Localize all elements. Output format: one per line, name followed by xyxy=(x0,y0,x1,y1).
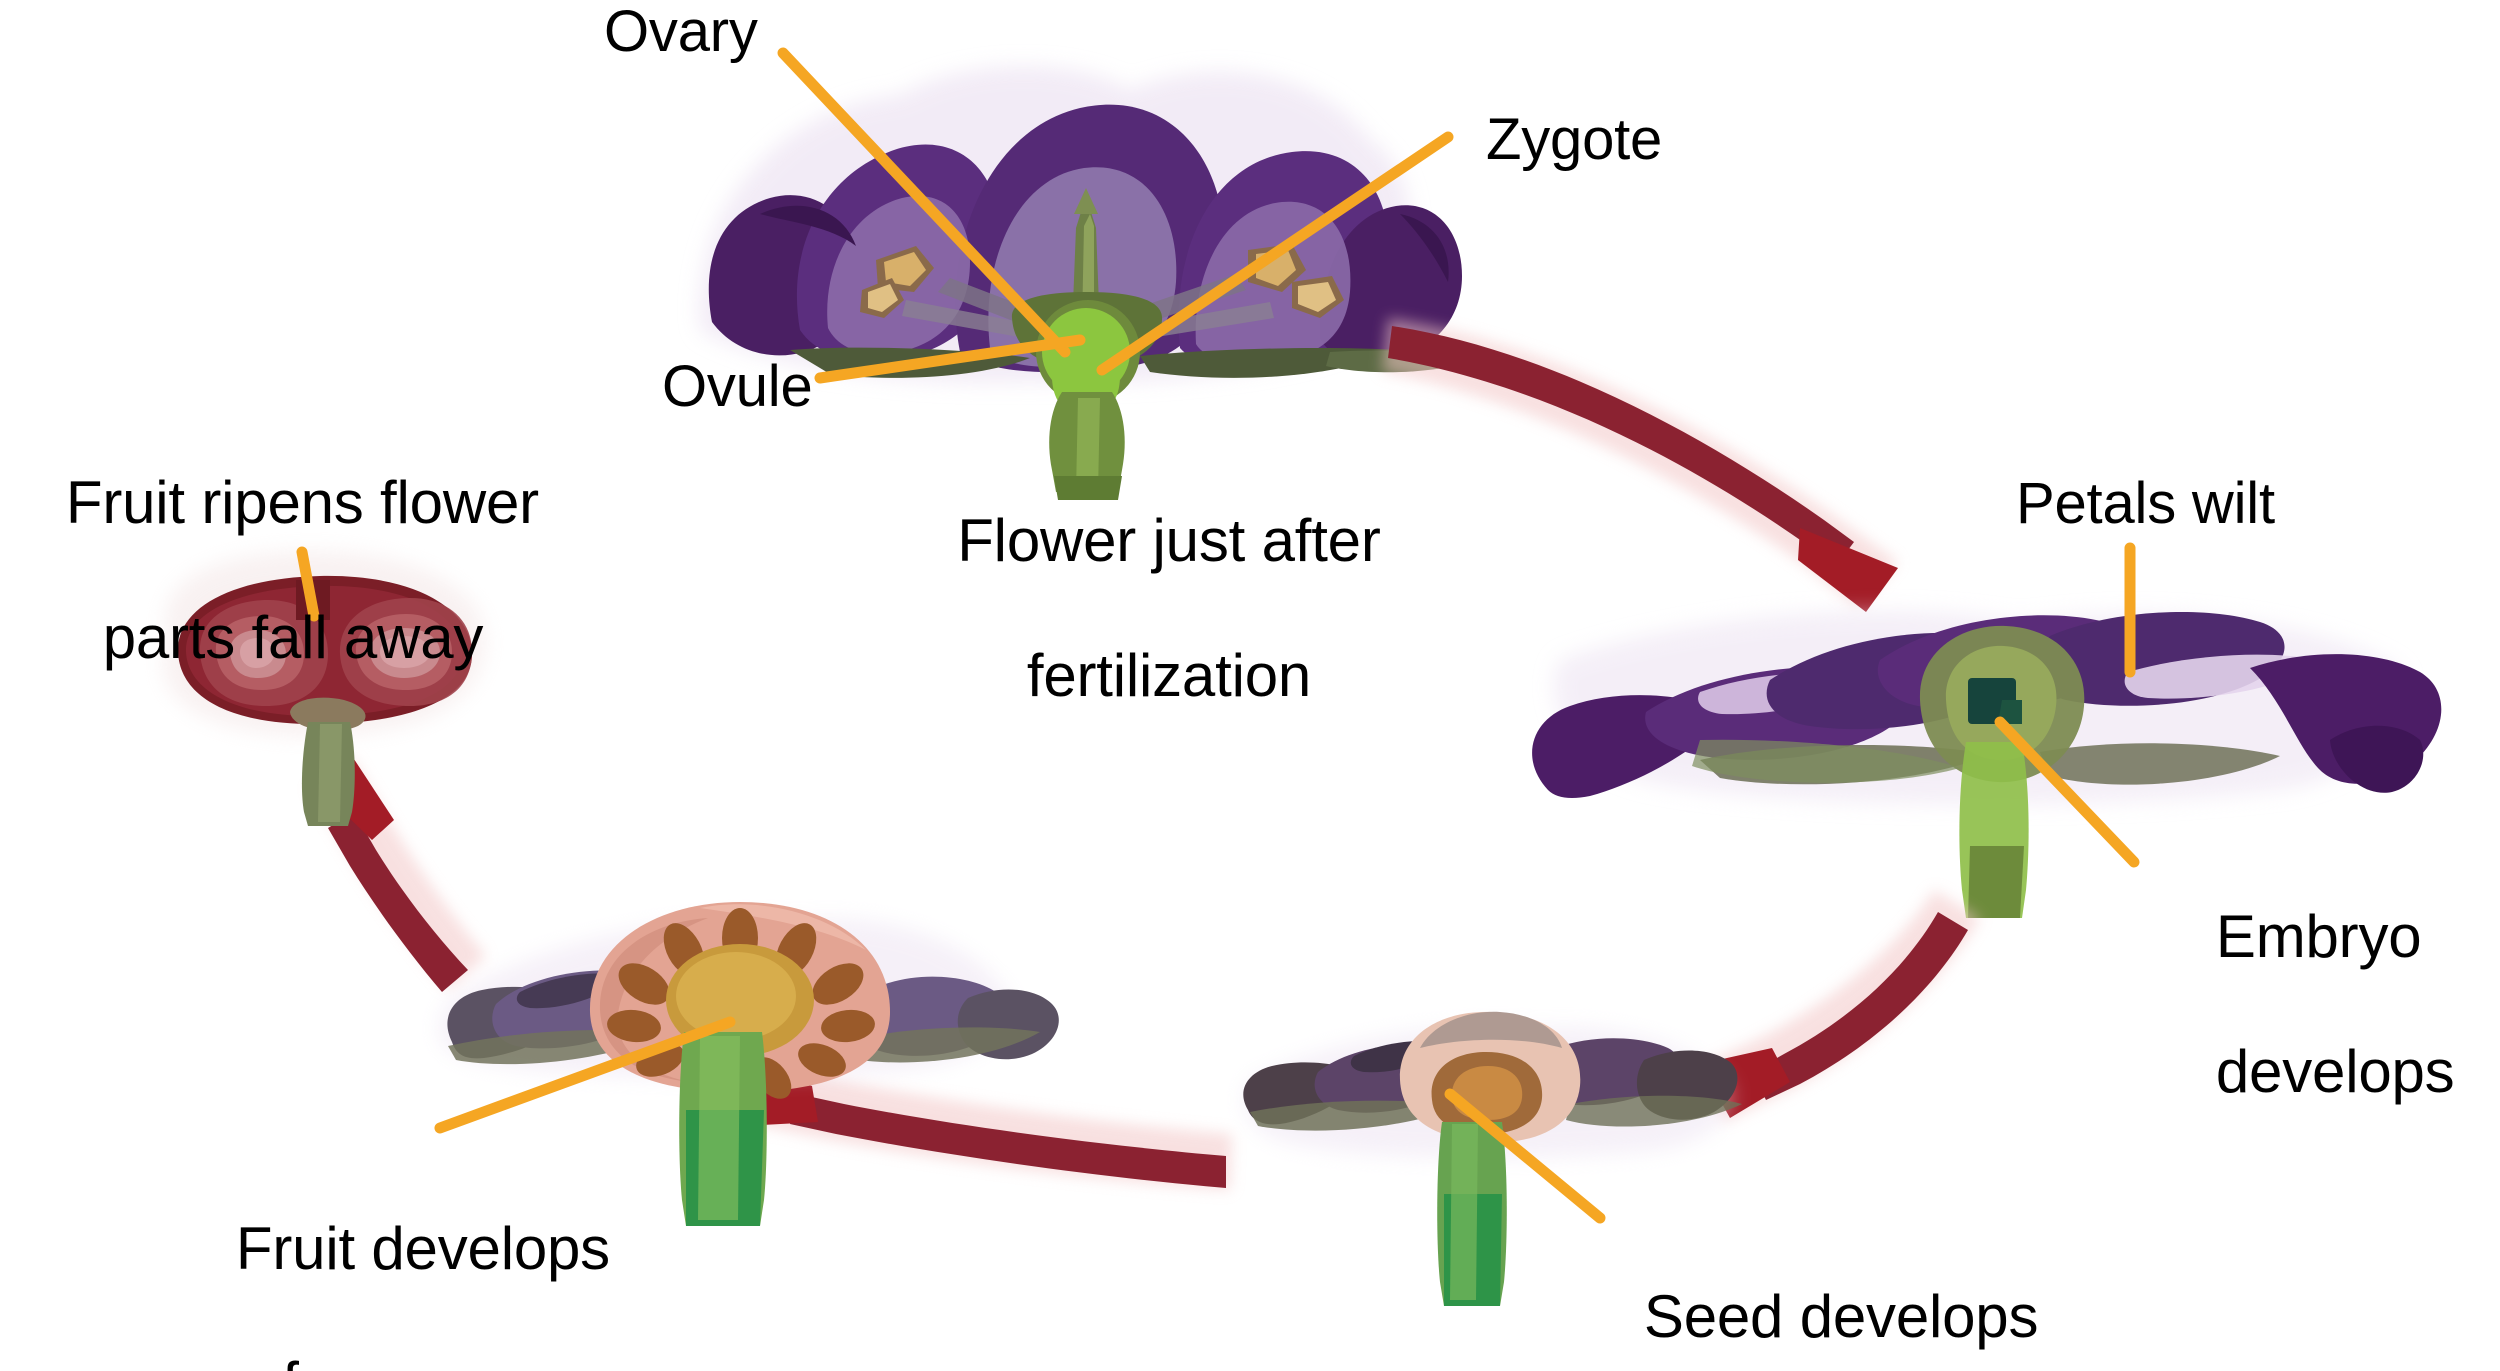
arrow-flower-to-petals-wilt xyxy=(1382,318,1898,612)
stage-flower-after-fertilization xyxy=(699,66,1470,500)
wilt-stem-dark xyxy=(1968,846,2024,918)
label-ovule: Ovule xyxy=(662,355,862,420)
fruit-center-inner xyxy=(676,952,796,1040)
wilt-petal-right-tip xyxy=(2330,726,2423,793)
fruit-ripens-line-1: Fruit ripens flower xyxy=(66,469,539,536)
arrow-petals-wilt-to-seed xyxy=(1700,890,1980,1122)
ripe-fruit-stem-light xyxy=(318,724,342,822)
diagram-canvas: Ovary Zygote Ovule Flower just after fer… xyxy=(0,0,2500,1371)
caption-line-2: fertilization xyxy=(1027,642,1311,709)
label-embryo-develops: Embryo develops xyxy=(2150,836,2500,1172)
seed-stem-light xyxy=(1450,1124,1478,1300)
seed-inner xyxy=(1452,1066,1522,1120)
label-fruit-ripens: Fruit ripens flower parts fall away xyxy=(0,402,520,738)
label-seed-develops: Seed develops from Ovule xyxy=(1578,1216,2038,1371)
embryo-line-1: Embryo xyxy=(2216,903,2422,970)
caption-flower-after-fertilization: Flower just after fertilization xyxy=(846,440,1426,776)
label-fruit-develops: Fruit develops from ovary xyxy=(150,1148,630,1371)
embryo-line-2: develops xyxy=(2216,1038,2455,1105)
fruitdev-stem-light xyxy=(698,1036,740,1220)
label-zygote: Zygote xyxy=(1486,108,1716,173)
label-petals-wilt: Petals wilt xyxy=(2016,472,2416,537)
seed-line-1: Seed develops xyxy=(1644,1283,2038,1350)
fruit-ripens-line-2: parts fall away xyxy=(103,604,484,671)
fruit-develops-line-1: Fruit develops xyxy=(236,1215,610,1282)
caption-line-1: Flower just after xyxy=(957,507,1380,574)
fruit-develops-line-2: from ovary xyxy=(282,1350,563,1371)
label-ovary: Ovary xyxy=(604,0,824,65)
